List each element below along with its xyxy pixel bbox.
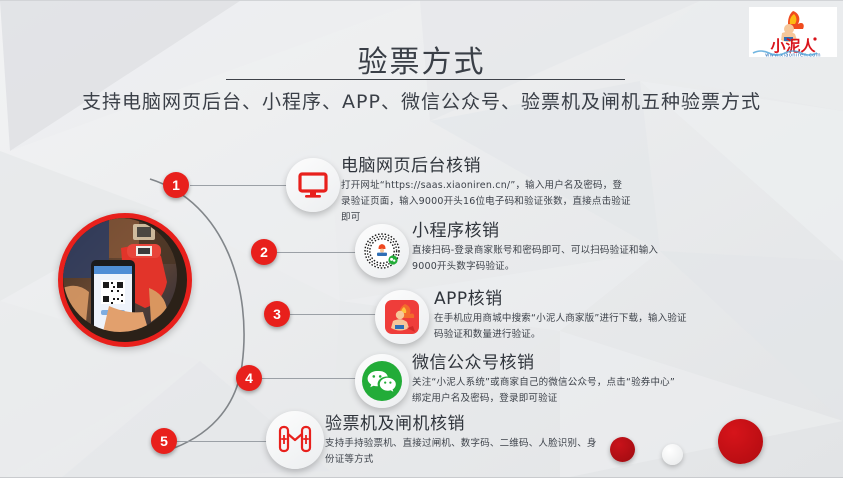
page-title: 验票方式 bbox=[0, 37, 843, 81]
step-icon-1[interactable] bbox=[286, 158, 340, 212]
brand-logo[interactable]: 小泥人 www.xiaoniren.com bbox=[749, 7, 837, 57]
monitor-icon bbox=[298, 170, 328, 200]
step-icon-4[interactable] bbox=[355, 354, 409, 408]
red-dot-small bbox=[610, 437, 635, 462]
step-number-3[interactable]: 3 bbox=[264, 301, 290, 327]
turnstile-icon bbox=[278, 425, 312, 455]
step-body-4: 关注“小泥人系统”或商家自己的微信公众号，点击“验券中心”绑定用户名及密码，登录… bbox=[412, 375, 684, 407]
step-block-2: 小程序核销 直接扫码-登录商家账号和密码即可、可以扫码验证和输入9000开头数字… bbox=[412, 216, 682, 275]
step-block-4: 微信公众号核销 关注“小泥人系统”或商家自己的微信公众号，点击“验券中心”绑定用… bbox=[412, 348, 684, 407]
step-number-1[interactable]: 1 bbox=[163, 172, 189, 198]
step-block-5: 验票机及闸机核销 支持手持验票机、直接过闸机、数字码、二维码、人脸识别、身份证等… bbox=[325, 409, 600, 468]
step-icon-5[interactable] bbox=[266, 411, 324, 469]
step-heading-2: 小程序核销 bbox=[412, 216, 682, 241]
slide-canvas: 验票方式 支持电脑网页后台、小程序、APP、微信公众号、验票机及闸机五种验票方式… bbox=[0, 0, 843, 478]
connector-line-4 bbox=[262, 378, 358, 379]
page-subtitle: 支持电脑网页后台、小程序、APP、微信公众号、验票机及闸机五种验票方式 bbox=[0, 87, 843, 114]
connector-line-3 bbox=[290, 314, 378, 315]
step-heading-3: APP核销 bbox=[434, 284, 696, 309]
app-icon bbox=[383, 298, 421, 336]
step-block-1: 电脑网页后台核销 打开网址“https://saas.xiaoniren.cn/… bbox=[341, 151, 631, 226]
title-divider bbox=[226, 79, 625, 80]
step-block-3: APP核销 在手机应用商城中搜索“小泥人商家版”进行下载，输入验证码验证和数量进… bbox=[434, 284, 696, 343]
step-heading-4: 微信公众号核销 bbox=[412, 348, 684, 373]
step-number-4[interactable]: 4 bbox=[236, 365, 262, 391]
qrcode-icon bbox=[362, 231, 402, 271]
connector-line-2 bbox=[277, 252, 359, 253]
connector-line-1 bbox=[190, 185, 290, 186]
wechat-icon bbox=[361, 360, 403, 402]
step-body-5: 支持手持验票机、直接过闸机、数字码、二维码、人脸识别、身份证等方式 bbox=[325, 436, 600, 468]
step-heading-1: 电脑网页后台核销 bbox=[341, 151, 631, 176]
step-heading-5: 验票机及闸机核销 bbox=[325, 409, 600, 434]
red-dot-large bbox=[718, 419, 763, 464]
step-icon-2[interactable] bbox=[355, 224, 409, 278]
step-body-3: 在手机应用商城中搜索“小泥人商家版”进行下载，输入验证码验证和数量进行验证。 bbox=[434, 311, 696, 343]
step-icon-3[interactable] bbox=[375, 290, 429, 344]
white-dot-small bbox=[662, 444, 683, 465]
step-number-5[interactable]: 5 bbox=[151, 428, 177, 454]
connector-line-5 bbox=[175, 441, 270, 442]
step-body-2: 直接扫码-登录商家账号和密码即可、可以扫码验证和输入9000开头数字码验证。 bbox=[412, 243, 682, 275]
step-number-2[interactable]: 2 bbox=[251, 239, 277, 265]
